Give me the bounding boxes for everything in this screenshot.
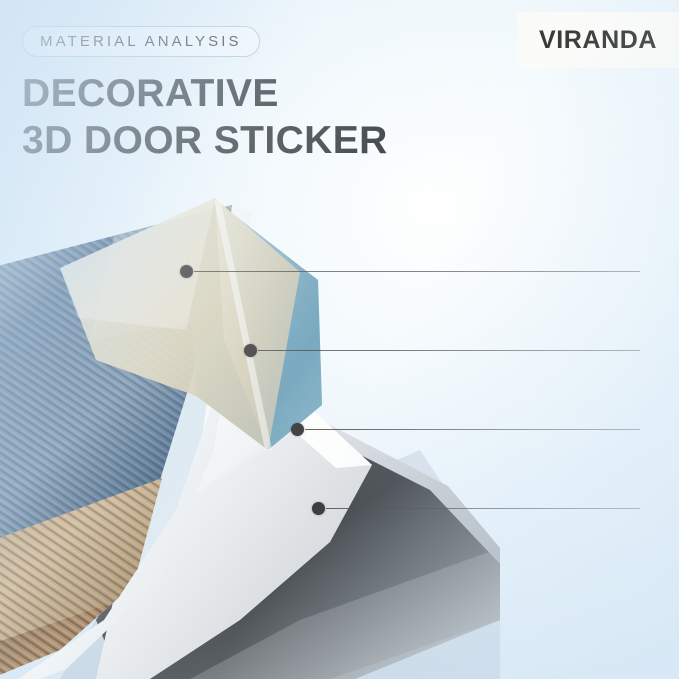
callout-line-2 <box>258 350 640 351</box>
title-line-1: DECORATIVE <box>22 72 279 115</box>
brand-name: VIRANDA <box>539 26 657 55</box>
callout-line-3 <box>305 429 640 430</box>
callout-dot-2 <box>244 344 257 357</box>
callout-line-4 <box>326 508 640 509</box>
sticker-artwork <box>0 150 500 679</box>
callout-dot-3 <box>291 423 304 436</box>
title-line-2: 3D DOOR STICKER <box>22 117 388 164</box>
poster-canvas: MATERIAL ANALYSIS DECORATIVE 3D DOOR STI… <box>0 0 679 679</box>
eyebrow-badge: MATERIAL ANALYSIS <box>22 26 260 57</box>
page-title: DECORATIVE 3D DOOR STICKER <box>22 70 388 164</box>
callout-dot-1 <box>180 265 193 278</box>
callout-dot-4 <box>312 502 325 515</box>
callout-line-1 <box>194 271 640 272</box>
brand-logo: VIRANDA <box>517 12 679 68</box>
eyebrow-label: MATERIAL ANALYSIS <box>40 33 242 50</box>
